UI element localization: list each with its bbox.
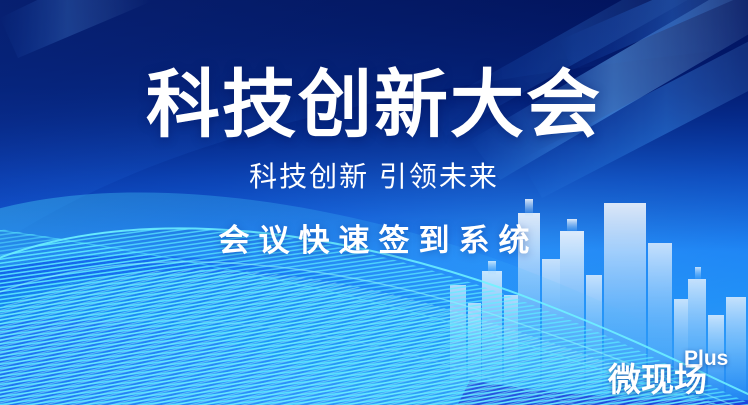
conference-banner: 科技创新大会 科技创新 引领未来 会议快速签到系统 微现场 Plus — [0, 0, 748, 405]
subtitle: 科技创新 引领未来 — [0, 160, 748, 194]
tagline: 会议快速签到系统 — [0, 222, 748, 260]
brand-logo: 微现场 Plus — [608, 346, 740, 402]
wave-ribbons-decoration — [0, 0, 748, 405]
page-title: 科技创新大会 — [0, 63, 748, 147]
brand-superscript: Plus — [684, 348, 728, 370]
